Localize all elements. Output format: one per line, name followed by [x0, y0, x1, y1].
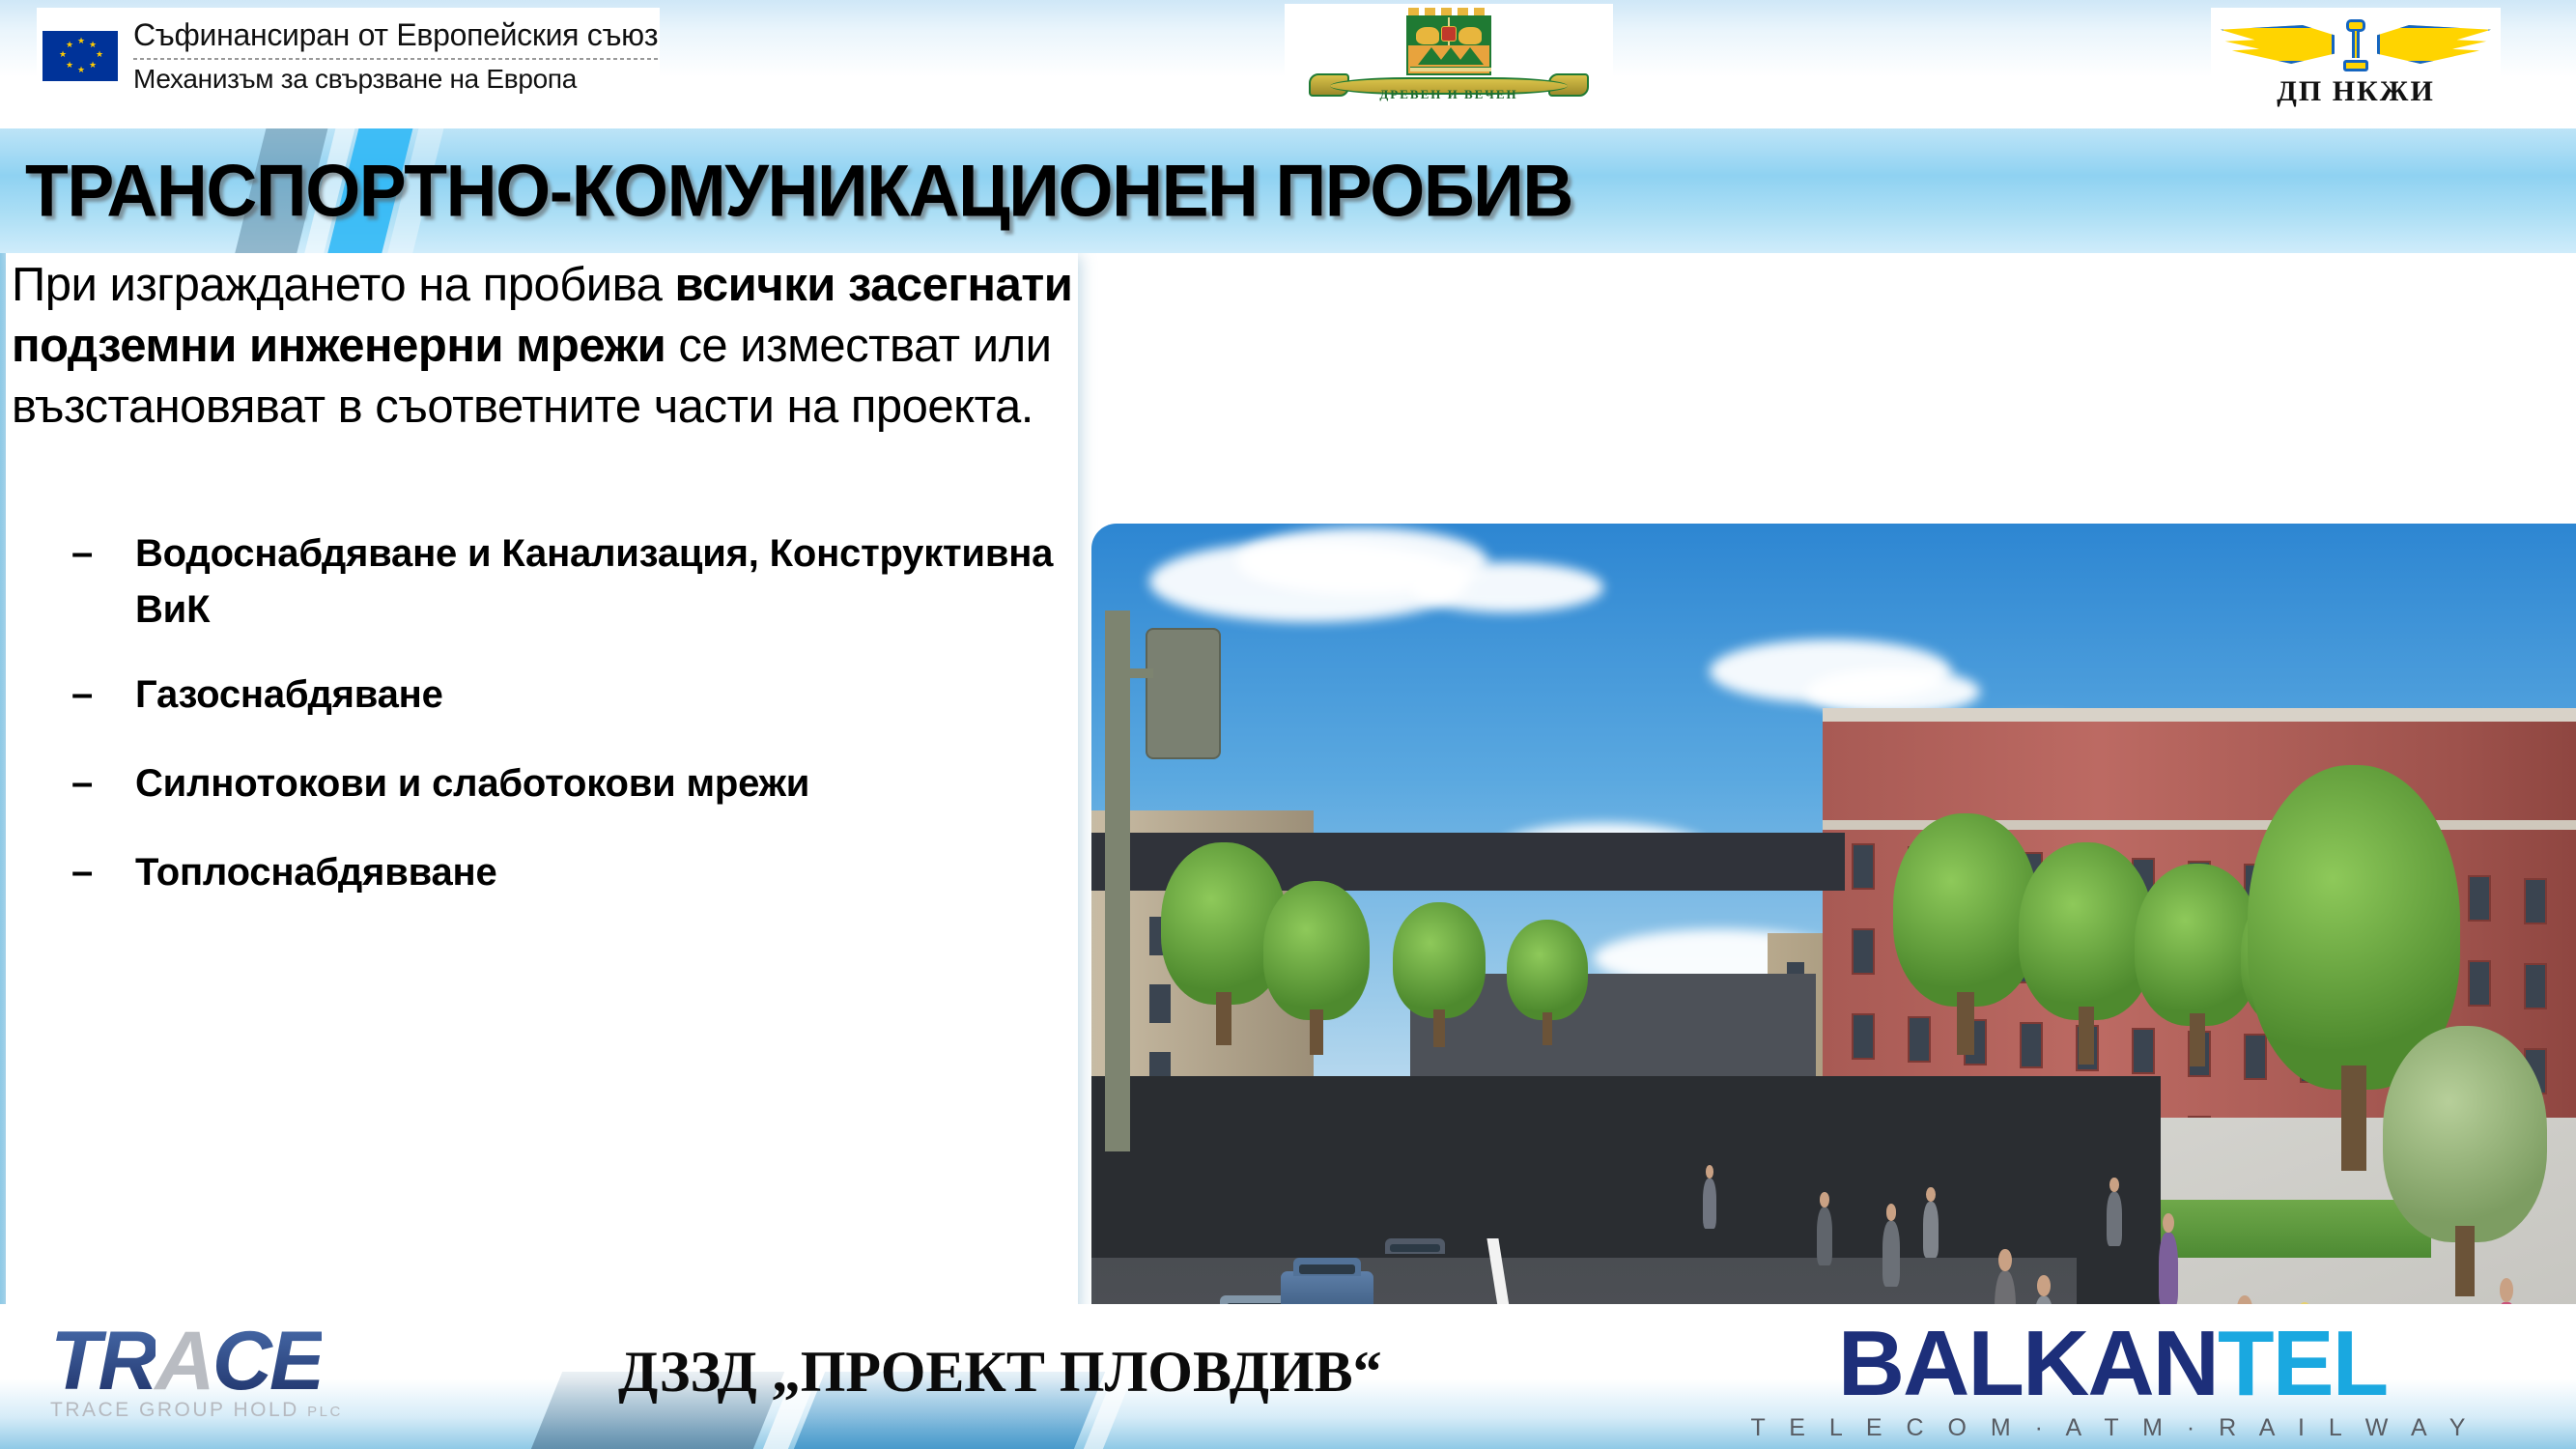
eu-emblem: ★ ★ ★ ★ ★ ★ ★ ★ Съфинансиран от Европейс… [37, 8, 660, 104]
trace-subtitle-text: TRACE GROUP HOLD [50, 1399, 299, 1421]
plovdiv-coat-of-arms: ДРЕВЕН И ВЕЧЕН [1285, 4, 1613, 106]
pedestrian [2107, 1192, 2122, 1246]
pedestrian [1817, 1207, 1832, 1265]
trace-word-part-1: TR [50, 1315, 156, 1407]
slide-body: При изграждането на пробива всички засег… [0, 253, 2576, 1316]
nkji-logo: ДП НКЖИ [2211, 8, 2501, 114]
bullet-marker: – [64, 755, 135, 810]
list-item: – Водоснабдяване и Канализация, Конструк… [64, 526, 1078, 638]
list-item: – Газоснабдяване [64, 667, 1078, 726]
trace-word-part-3: CE [212, 1315, 322, 1407]
traffic-signal-head [1146, 628, 1221, 759]
balkantel-word-part-2: TEL [2218, 1312, 2387, 1415]
tree [1263, 881, 1370, 1055]
tree [2383, 1026, 2547, 1296]
header-logo-strip: ★ ★ ★ ★ ★ ★ ★ ★ Съфинансиран от Европейс… [0, 0, 2576, 140]
paragraph-part-1: При изграждането на пробива [12, 259, 674, 311]
bullet-marker: – [64, 526, 135, 581]
pedestrian [1882, 1221, 1900, 1287]
trace-subtitle: TRACE GROUP HOLD PLC [50, 1399, 456, 1422]
pedestrian [1923, 1202, 1939, 1258]
trace-word-part-2: A [156, 1315, 212, 1407]
list-item-label: Топлоснабдявване [135, 844, 497, 900]
nkji-logo-text: ДП НКЖИ [2211, 75, 2501, 108]
coat-of-arms-ribbon: ДРЕВЕН И ВЕЧЕН [1309, 71, 1589, 100]
pedestrian [2159, 1233, 2178, 1308]
bullet-list: – Водоснабдяване и Канализация, Конструк… [64, 526, 1078, 904]
slide-title: ТРАНСПОРТНО-КОМУНИКАЦИОНЕН ПРОБИВ [25, 149, 1628, 233]
eu-divider [133, 58, 658, 60]
tree [1893, 813, 2038, 1055]
list-item: – Топлоснабдявване [64, 844, 1078, 904]
coat-of-arms-motto: ДРЕВЕН И ВЕЧЕН [1330, 87, 1568, 102]
eu-line-1: Съфинансиран от Европейския съюз [133, 17, 658, 53]
tree [1507, 920, 1588, 1045]
list-item-label: Силнотокови и слаботокови мрежи [135, 755, 809, 811]
trace-subtitle-suffix: PLC [307, 1404, 343, 1420]
list-item: – Силнотокови и слаботокови мрежи [64, 755, 1078, 815]
winged-rail-icon [2221, 19, 2491, 70]
tree [2019, 842, 2154, 1065]
consortium-name: ДЗЗД „ПРОЕКТ ПЛОВДИВ“ [618, 1339, 1545, 1406]
text-content-card: При изграждането на пробива всички засег… [6, 253, 1078, 1337]
list-item-label: Газоснабдяване [135, 667, 443, 723]
slide-root: ★ ★ ★ ★ ★ ★ ★ ★ Съфинансиран от Европейс… [0, 0, 2576, 1449]
slide-title-text: ТРАНСПОРТНО-КОМУНИКАЦИОНЕН ПРОБИВ [25, 149, 1572, 233]
list-item-label: Водоснабдяване и Канализация, Конструкти… [135, 526, 1078, 638]
trace-logo: TRACE TRACE GROUP HOLD PLC [50, 1320, 456, 1435]
tree [1393, 902, 1486, 1047]
body-paragraph: При изграждането на пробива всички засег… [12, 255, 1074, 438]
traffic-signal-pole [1105, 611, 1130, 1151]
eu-line-2: Механизъм за свързване на Европа [133, 64, 658, 95]
title-band: ТРАНСПОРТНО-КОМУНИКАЦИОНЕН ПРОБИВ [0, 128, 2576, 253]
eu-emblem-text: Съфинансиран от Европейския съюз Механиз… [133, 17, 658, 95]
balkantel-subtitle: T E L E C O M · A T M · R A I L W A Y [1687, 1414, 2537, 1442]
bullet-marker: – [64, 667, 135, 722]
eu-flag-icon: ★ ★ ★ ★ ★ ★ ★ ★ [42, 31, 118, 81]
bullet-marker: – [64, 844, 135, 899]
balkantel-logo: BALKANTEL T E L E C O M · A T M · R A I … [1687, 1318, 2537, 1437]
car-dark [1373, 1250, 1457, 1289]
balkantel-wordmark: BALKANTEL [1687, 1318, 2537, 1410]
footer-band: TRACE TRACE GROUP HOLD PLC ДЗЗД „ПРОЕКТ … [0, 1304, 2576, 1449]
balkantel-word-part-1: BALKAN [1838, 1312, 2218, 1415]
trace-wordmark: TRACE [50, 1320, 456, 1403]
pedestrian [1703, 1179, 1716, 1229]
